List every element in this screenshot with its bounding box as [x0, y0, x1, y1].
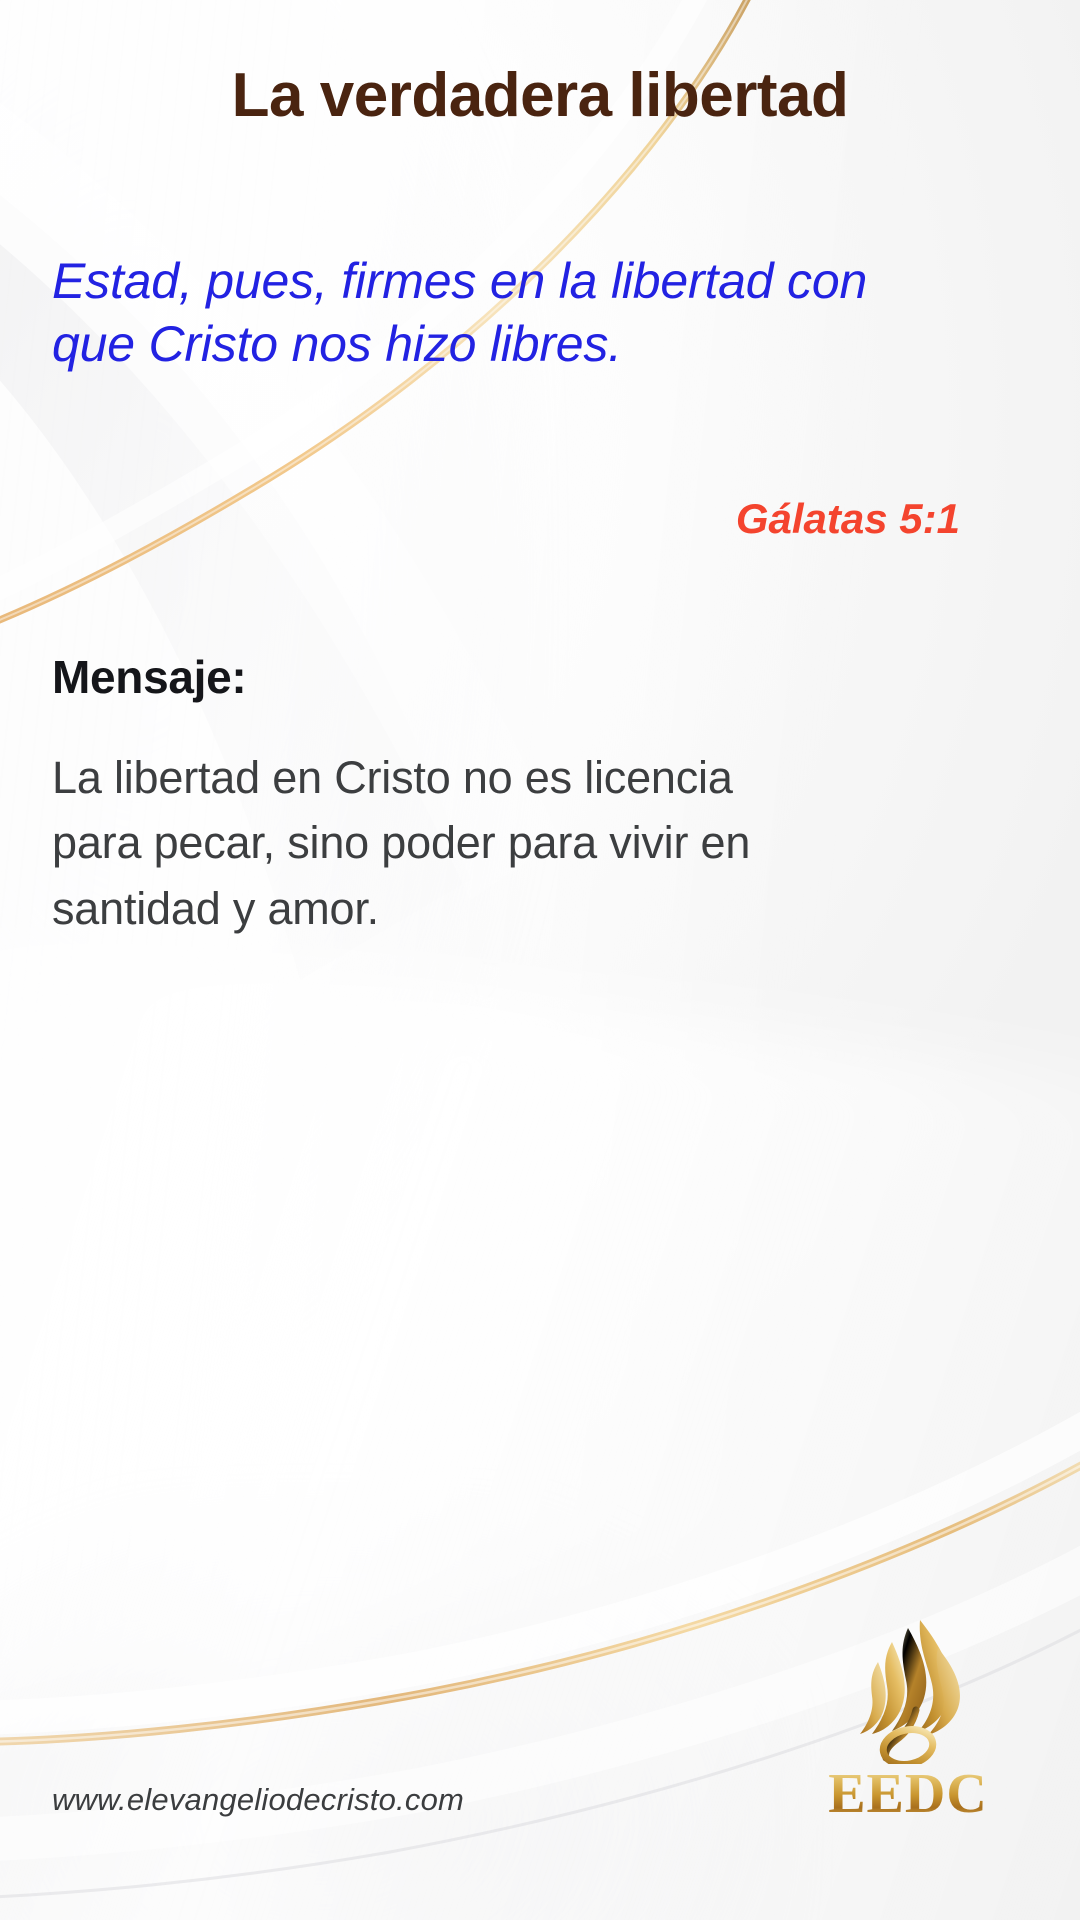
page-title: La verdadera libertad: [0, 62, 1080, 130]
website-url: www.elevangeliodecristo.com: [52, 1782, 464, 1818]
verse-text: Estad, pues, firmes en la libertad con q…: [52, 250, 942, 376]
gold-flame-icon: [842, 1614, 974, 1764]
verse-reference: Gálatas 5:1: [736, 495, 960, 543]
brand-logo: EEDC: [798, 1614, 1018, 1822]
logo-wordmark: EEDC: [798, 1766, 1018, 1822]
scripture-poster: La verdadera libertad Estad, pues, firme…: [0, 0, 1080, 1920]
message-label: Mensaje:: [52, 650, 246, 704]
message-body: La libertad en Cristo no es licencia par…: [52, 745, 752, 941]
